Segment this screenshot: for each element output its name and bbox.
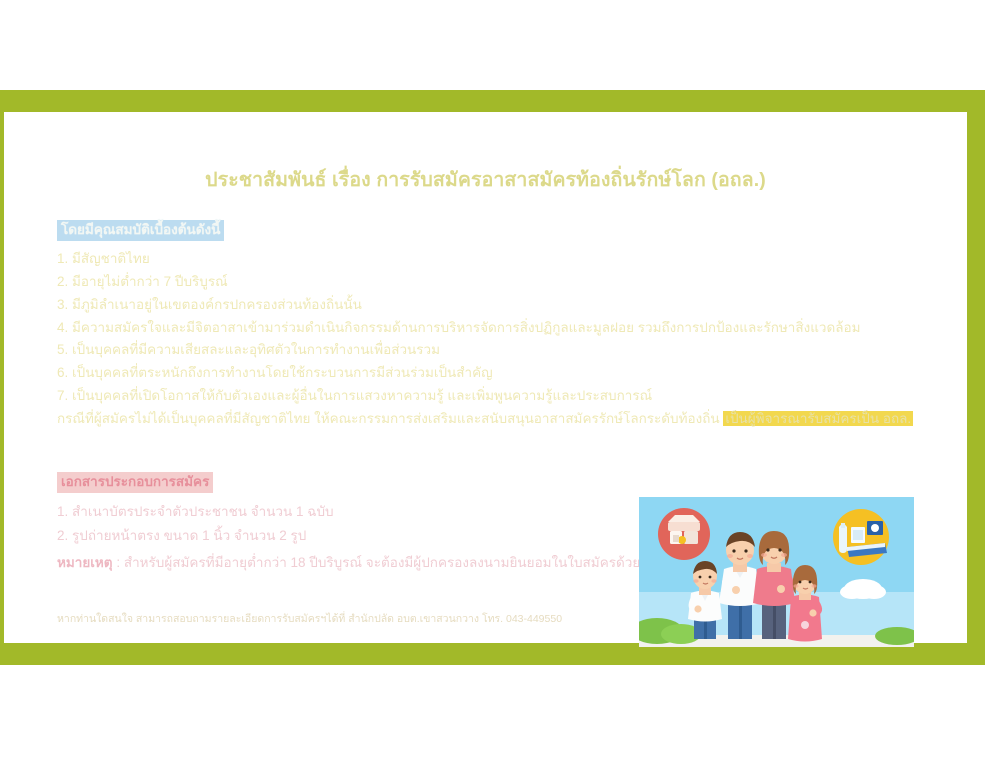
remark-label: หมายเหตุ: [57, 555, 113, 570]
qualifications-heading: โดยมีคุณสมบัติเบื้องต้นดังนี้: [57, 220, 224, 241]
poster-green-frame: ประชาสัมพันธ์ เรื่อง การรับสมัครอาสาสมัค…: [0, 90, 985, 665]
exception-note-highlight: เป็นผู้พิจารณารับสมัครเป็น อถล.: [723, 411, 913, 426]
waste-bubble-red-icon: [658, 508, 710, 560]
list-item: 1. มีสัญชาติไทย: [57, 248, 945, 271]
list-item: 3. มีภูมิลำเนาอยู่ในเขตองค์กรปกครองส่วนท…: [57, 294, 945, 317]
list-item: 5. เป็นบุคคลที่มีความเสียสละและอุทิศตัวใ…: [57, 339, 945, 362]
exception-note: กรณีที่ผู้สมัครไม่ได้เป็นบุคคลที่มีสัญชา…: [57, 408, 945, 431]
list-item: 7. เป็นบุคคลที่เปิดโอกาสให้กับตัวเองและผ…: [57, 385, 945, 408]
list-item: 2. มีอายุไม่ต่ำกว่า 7 ปีบริบูรณ์: [57, 271, 945, 294]
qualifications-section: โดยมีคุณสมบัติเบื้องต้นดังนี้ 1. มีสัญชา…: [57, 220, 945, 431]
page-title: ประชาสัมพันธ์ เรื่อง การรับสมัครอาสาสมัค…: [4, 164, 967, 195]
poster-white-sheet: ประชาสัมพันธ์ เรื่อง การรับสมัครอาสาสมัค…: [4, 112, 967, 643]
documents-heading: เอกสารประกอบการสมัคร: [57, 472, 213, 493]
family-waste-sorting-illustration: [639, 497, 914, 647]
list-item: 6. เป็นบุคคลที่ตระหนักถึงการทำงานโดยใช้ก…: [57, 362, 945, 385]
exception-note-text: กรณีที่ผู้สมัครไม่ได้เป็นบุคคลที่มีสัญชา…: [57, 411, 723, 426]
list-item: 4. มีความสมัครใจและมีจิตอาสาเข้ามาร่วมดำ…: [57, 317, 945, 340]
qualifications-list: 1. มีสัญชาติไทย 2. มีอายุไม่ต่ำกว่า 7 ปี…: [57, 248, 945, 408]
remark-text: : สำหรับผู้สมัครที่มีอายุต่ำกว่า 18 ปีบร…: [113, 555, 641, 570]
illustration-svg: [639, 497, 914, 647]
recycle-bubble-yellow-icon: [833, 509, 889, 565]
